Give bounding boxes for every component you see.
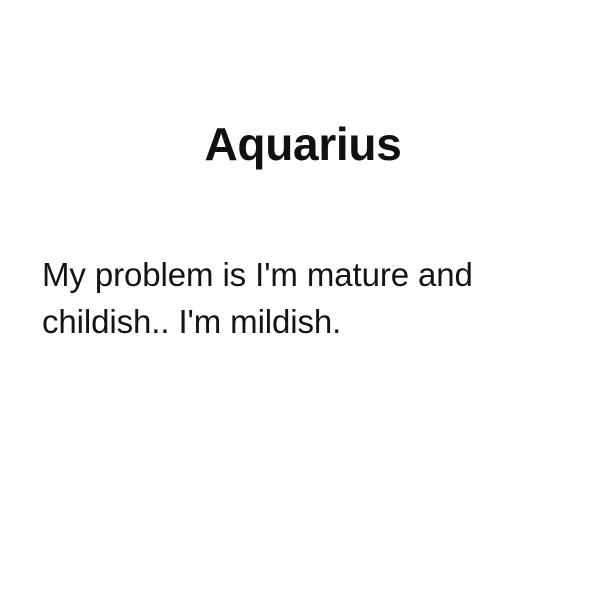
meme-body-text: My problem is I'm mature and childish.. … [42, 251, 572, 345]
meme-card: Aquarius My problem is I'm mature and ch… [0, 0, 606, 600]
zodiac-sign-title: Aquarius [0, 118, 606, 171]
